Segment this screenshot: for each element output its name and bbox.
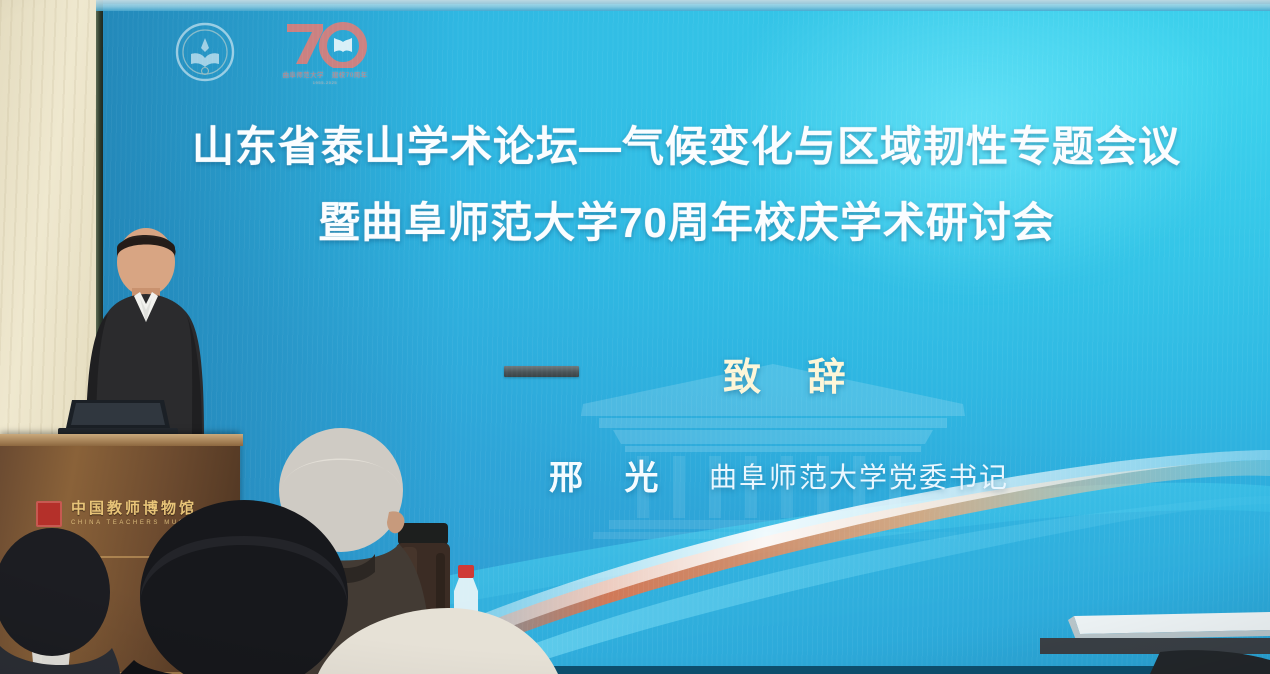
anniversary-caption: 曲阜师范大学 建校70周年 1955-2025: [282, 68, 367, 85]
slide-logo-group: 曲阜师范大学 建校70周年 1955-2025: [175, 18, 371, 85]
audience-shoulder-light-coat: [318, 600, 558, 674]
university-crest-icon: [175, 22, 235, 82]
slide-section-label: 致 辞: [723, 346, 864, 401]
slide-section-row: 致 辞: [103, 350, 1270, 396]
slide-speaker-title: 曲阜师范大学党委书记: [709, 456, 1009, 496]
anniversary-university-name: 曲阜师范大学: [282, 69, 323, 79]
redaction-bar: [504, 366, 579, 377]
slide-title-line-2: 暨曲阜师范大学70周年校庆学术研讨会: [103, 198, 1270, 248]
foreground-table: [1040, 590, 1270, 674]
audience-head-dark-hair-left: [0, 520, 120, 674]
conference-photo-stage: 曲阜师范大学 建校70周年 1955-2025 山东省泰山学术论坛—气候变化与区…: [0, 0, 1270, 674]
slide-title-line-1: 山东省泰山学术论坛—气候变化与区域韧性专题会议: [103, 122, 1270, 172]
anniversary-years-row: 1955-2025: [313, 80, 338, 85]
ceiling-strip: [96, 0, 1270, 11]
anniversary-caption-row: 曲阜师范大学 建校70周年: [282, 69, 367, 79]
laptop-icon: [58, 398, 178, 438]
slide-title-block: 山东省泰山学术论坛—气候变化与区域韧性专题会议 暨曲阜师范大学70周年校庆学术研…: [103, 122, 1270, 249]
anniversary-logo: 曲阜师范大学 建校70周年 1955-2025: [279, 18, 371, 85]
anniversary-tagline: 建校70周年: [332, 69, 368, 79]
slide-speaker-name: 邢 光: [549, 450, 674, 499]
seventy-anniversary-icon: [279, 18, 371, 68]
anniversary-years: 1955-2025: [313, 80, 338, 85]
podium-top-edge: [0, 434, 243, 446]
